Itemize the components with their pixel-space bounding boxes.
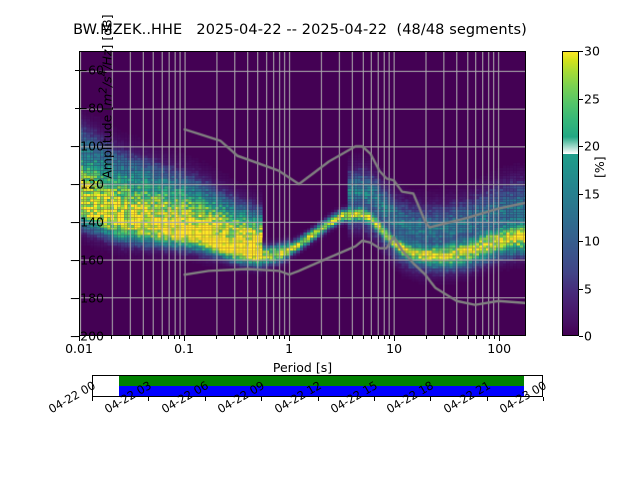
y-tick-mark: [75, 222, 79, 223]
colorbar-tick-label: 0: [584, 329, 592, 344]
timeline-tick-mark: [318, 397, 319, 401]
x-tick-mark: [352, 336, 353, 339]
x-tick-mark: [321, 336, 322, 339]
x-tick-mark: [476, 336, 477, 339]
timeline-tick-label: 04-22 00: [46, 378, 98, 416]
x-tick-mark: [494, 336, 495, 339]
x-tick-mark: [468, 336, 469, 339]
colorbar-tick-mark: [579, 336, 583, 337]
x-tick-mark: [247, 336, 248, 339]
y-tick-label: −80: [44, 101, 104, 116]
x-tick-mark: [363, 336, 364, 339]
x-tick-mark: [273, 336, 274, 339]
timeline-tick-mark: [261, 397, 262, 401]
x-tick-mark: [279, 336, 280, 339]
colorbar-tick-label: 10: [584, 234, 600, 249]
y-tick-mark: [75, 184, 79, 185]
x-tick-mark: [483, 336, 484, 339]
x-tick-mark: [216, 336, 217, 339]
colorbar: [562, 51, 579, 336]
y-tick-mark: [75, 108, 79, 109]
x-tick-mark: [257, 336, 258, 339]
x-tick-mark: [111, 336, 112, 339]
x-tick-mark: [234, 336, 235, 339]
x-tick-mark: [444, 336, 445, 339]
y-tick-mark: [75, 146, 79, 147]
x-tick-mark: [266, 336, 267, 339]
colorbar-tick-mark: [579, 146, 583, 147]
x-tick-mark: [384, 336, 385, 339]
y-tick-label: −160: [44, 253, 104, 268]
x-axis-label: Period [s]: [79, 360, 526, 375]
colorbar-tick-label: 5: [584, 281, 592, 296]
timeline-tick-mark: [148, 397, 149, 401]
timeline-tick-mark: [543, 397, 544, 401]
colorbar-tick-mark: [579, 194, 583, 195]
x-tick-mark: [174, 336, 175, 339]
colorbar-tick-mark: [579, 289, 583, 290]
timeline-tick-mark: [430, 397, 431, 401]
colorbar-tick-mark: [579, 241, 583, 242]
x-tick-mark: [179, 336, 180, 339]
x-tick-mark: [161, 336, 162, 339]
x-tick-label: 10: [386, 341, 402, 356]
x-tick-mark: [284, 336, 285, 339]
x-tick-mark: [389, 336, 390, 339]
x-tick-label: 0.1: [174, 341, 194, 356]
colorbar-tick-label: 25: [584, 91, 600, 106]
x-tick-label: 1: [285, 341, 293, 356]
colorbar-tick-mark: [579, 99, 583, 100]
timeline-tick-mark: [487, 397, 488, 401]
x-tick-mark: [378, 336, 379, 339]
timeline-tick-mark: [205, 397, 206, 401]
x-tick-label: 0.01: [65, 341, 93, 356]
timeline-tick-mark: [374, 397, 375, 401]
colorbar-tick-label: 15: [584, 186, 600, 201]
colorbar-tick-label: 30: [584, 44, 600, 59]
y-tick-label: −120: [44, 177, 104, 192]
x-tick-mark: [489, 336, 490, 339]
x-tick-mark: [129, 336, 130, 339]
y-tick-label: −140: [44, 215, 104, 230]
y-tick-mark: [75, 70, 79, 71]
y-tick-label: −60: [44, 63, 104, 78]
timeline-tick-mark: [92, 397, 93, 401]
y-tick-mark: [75, 260, 79, 261]
x-tick-mark: [142, 336, 143, 339]
colorbar-tick-label: 20: [584, 139, 600, 154]
page-title: BW.MZEK..HHE 2025-04-22 -- 2025-04-22 (4…: [0, 22, 600, 38]
x-tick-label: 100: [487, 341, 511, 356]
y-tick-mark: [75, 298, 79, 299]
timeline-bar-data-coverage[interactable]: [119, 376, 524, 386]
x-tick-mark: [371, 336, 372, 339]
x-tick-mark: [457, 336, 458, 339]
colorbar-tick-mark: [579, 51, 583, 52]
noise-model-curves: [80, 52, 525, 335]
x-tick-mark: [168, 336, 169, 339]
colorbar-label: [%]: [592, 156, 607, 178]
x-tick-mark: [426, 336, 427, 339]
x-tick-mark: [339, 336, 340, 339]
x-tick-mark: [152, 336, 153, 339]
ppsd-plot-area: [79, 51, 526, 336]
y-tick-label: −100: [44, 139, 104, 154]
y-tick-label: −180: [44, 291, 104, 306]
